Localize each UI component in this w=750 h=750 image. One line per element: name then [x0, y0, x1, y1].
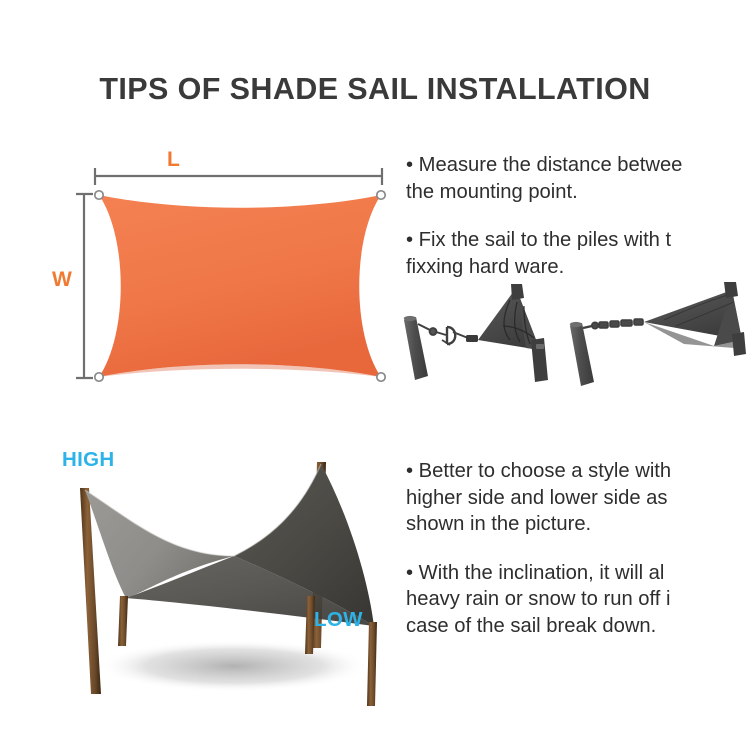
grommet-bottom-right — [377, 373, 385, 381]
grommet-bottom-left — [95, 373, 103, 381]
chain-hardware-right — [583, 319, 643, 329]
length-dimension-line — [95, 168, 382, 185]
low-label: LOW — [314, 608, 363, 632]
post-front-right — [367, 622, 377, 706]
ground-shadow — [98, 640, 370, 692]
post-front-left — [118, 596, 128, 646]
tip-measure-distance: • Measure the distance betwee the mounti… — [406, 152, 750, 205]
mounting-post-right — [570, 322, 594, 386]
orange-sail-body — [99, 195, 381, 377]
inclined-shade-sail-scene — [38, 438, 430, 712]
grommet-top-left — [95, 191, 103, 199]
high-label: HIGH — [62, 448, 114, 472]
tips-list-top: • Measure the distance betwee the mounti… — [406, 152, 750, 280]
mounting-post-left — [404, 316, 428, 380]
tip-choose-style: • Better to choose a style with higher s… — [406, 458, 750, 538]
page-title: TIPS OF SHADE SAIL INSTALLATION — [0, 72, 750, 107]
grommet-top-right — [377, 191, 385, 199]
sail-corner-right — [644, 282, 746, 356]
turnbuckle-hardware-left — [418, 324, 468, 345]
hardware-illustration-left — [404, 284, 548, 382]
length-label: L — [167, 148, 180, 172]
shackle-left — [466, 335, 478, 342]
width-dimension-line — [76, 194, 93, 378]
fixing-hardware-illustrations — [398, 282, 750, 390]
width-label: W — [52, 268, 72, 292]
tips-list-bottom: • Better to choose a style with higher s… — [406, 458, 750, 639]
tip-inclination-runoff: • With the inclination, it will al heavy… — [406, 560, 750, 640]
rectangle-shade-sail-diagram — [62, 142, 402, 402]
infographic-page: TIPS OF SHADE SAIL INSTALLATION — [0, 0, 750, 750]
tip-fix-sail-to-piles: • Fix the sail to the piles with t fixxi… — [406, 227, 750, 280]
sail-corner-left — [478, 284, 548, 382]
hardware-illustration-right — [570, 282, 746, 386]
